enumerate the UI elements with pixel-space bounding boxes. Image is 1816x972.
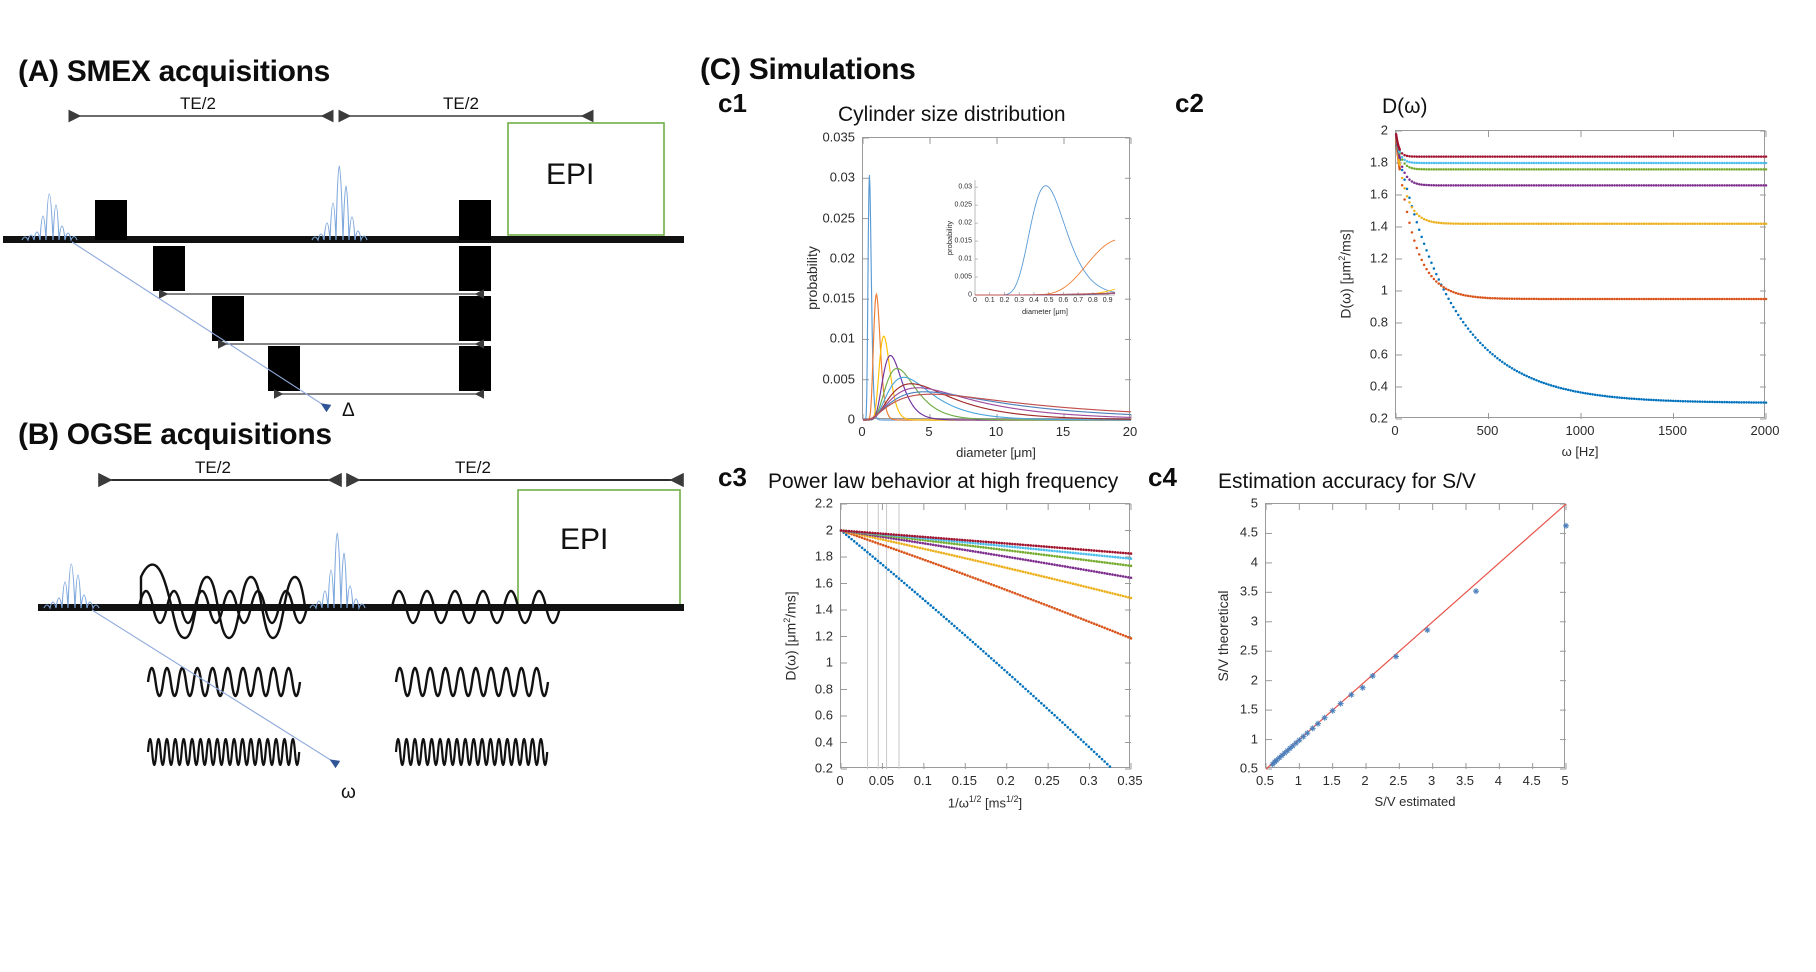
c3-ytick: 0.2 — [815, 761, 833, 776]
c4-ytick: 2.5 — [1240, 643, 1258, 658]
c1-inset-xtick: 0.4 — [1029, 297, 1039, 304]
c2-xtick: 0 — [1391, 423, 1398, 438]
c1-ytick: 0.015 — [822, 291, 855, 306]
c4-xtick: 0.5 — [1256, 773, 1274, 788]
c1-inset-xtick: 0.5 — [1044, 297, 1054, 304]
c4-plot-area — [1265, 503, 1565, 768]
c1-inset-yaxis-label: probability — [945, 220, 954, 254]
c1-xaxis-label: diameter [μm] — [956, 445, 1036, 460]
c1-inset-xtick: 0 — [973, 297, 977, 304]
c1-inset-ytick: 0.03 — [958, 184, 972, 191]
c1-ytick: 0.02 — [830, 250, 855, 265]
c2-xtick: 2000 — [1751, 423, 1780, 438]
delta-symbol-label: Δ — [342, 400, 355, 422]
subpanel-label-c3: c3 — [718, 462, 747, 493]
c2-xtick: 1500 — [1658, 423, 1687, 438]
c1-ytick: 0.03 — [830, 170, 855, 185]
c1-ytick: 0 — [848, 412, 855, 427]
c1-ytick: 0.035 — [822, 130, 855, 145]
c2-plot-area — [1395, 130, 1765, 418]
c1-inset-xtick: 0.7 — [1073, 297, 1083, 304]
subpanel-label-c1: c1 — [718, 88, 747, 119]
chart-title-c2: D(ω) — [1382, 95, 1428, 119]
c3-xaxis-label: 1/ω1/2 [ms1/2] — [948, 794, 1022, 810]
subpanel-label-c2: c2 — [1175, 88, 1204, 119]
c4-xaxis-label: S/V estimated — [1375, 794, 1456, 809]
c2-ytick: 0.4 — [1370, 379, 1388, 394]
c1-inset-xaxis-label: diameter [μm] — [1022, 307, 1068, 316]
c3-xtick: 0.05 — [869, 773, 894, 788]
c4-ytick: 0.5 — [1240, 761, 1258, 776]
c3-xtick: 0.35 — [1117, 773, 1142, 788]
c4-xtick: 4 — [1495, 773, 1502, 788]
c4-xtick: 5 — [1561, 773, 1568, 788]
panel-b-title: (B) OGSE acquisitions — [18, 418, 332, 452]
panel-a-title: (A) SMEX acquisitions — [18, 55, 330, 89]
c4-ytick: 3.5 — [1240, 584, 1258, 599]
c3-xtick: 0.25 — [1034, 773, 1059, 788]
c4-ytick: 5 — [1251, 496, 1258, 511]
ogse-sequence-diagram — [0, 452, 700, 792]
c3-xtick: 0.15 — [952, 773, 977, 788]
te-half-left-a: TE/2 — [180, 94, 216, 114]
c4-ytick: 4.5 — [1240, 525, 1258, 540]
c4-xtick: 2 — [1361, 773, 1368, 788]
c2-ytick: 2 — [1381, 123, 1388, 138]
c1-xtick: 20 — [1123, 424, 1137, 439]
c1-inset-ytick: 0.005 — [954, 274, 972, 281]
smex-sequence-diagram — [0, 88, 700, 418]
c3-ytick: 2.2 — [815, 496, 833, 511]
te-half-right-b: TE/2 — [455, 458, 491, 478]
c1-inset-xtick: 0.8 — [1088, 297, 1098, 304]
c3-ytick: 1.6 — [815, 575, 833, 590]
panel-c-title: (C) Simulations — [700, 53, 916, 87]
c2-ytick: 0.6 — [1370, 347, 1388, 362]
c2-xtick: 1000 — [1566, 423, 1595, 438]
omega-symbol-label: ω — [341, 782, 356, 804]
c4-xtick: 1 — [1295, 773, 1302, 788]
c1-xtick: 10 — [989, 424, 1003, 439]
c2-ytick: 1.2 — [1370, 251, 1388, 266]
c1-xtick: 0 — [858, 424, 865, 439]
c2-xaxis-label: ω [Hz] — [1562, 444, 1599, 459]
c3-ytick: 2 — [826, 522, 833, 537]
epi-label-b: EPI — [560, 523, 608, 557]
c4-ytick: 3 — [1251, 613, 1258, 628]
c3-ytick: 1.4 — [815, 602, 833, 617]
c1-inset-ytick: 0.015 — [954, 238, 972, 245]
c1-xtick: 5 — [925, 424, 932, 439]
c3-xtick: 0 — [836, 773, 843, 788]
c4-ytick: 2 — [1251, 672, 1258, 687]
c1-ytick: 0.01 — [830, 331, 855, 346]
c3-ytick: 1.8 — [815, 549, 833, 564]
c1-inset-ytick: 0.02 — [958, 220, 972, 227]
c2-ytick: 1.4 — [1370, 219, 1388, 234]
c2-ytick: 0.2 — [1370, 411, 1388, 426]
c2-ytick: 1.8 — [1370, 155, 1388, 170]
c2-ytick: 1.6 — [1370, 187, 1388, 202]
c3-plot-area — [840, 503, 1130, 768]
c4-xtick: 3 — [1428, 773, 1435, 788]
c1-ytick: 0.005 — [822, 371, 855, 386]
c1-inset-xtick: 0.3 — [1014, 297, 1024, 304]
c3-ytick: 0.4 — [815, 734, 833, 749]
c4-yaxis-label: S/V theoretical — [1215, 590, 1231, 681]
c4-xtick: 4.5 — [1523, 773, 1541, 788]
c3-ytick: 0.6 — [815, 708, 833, 723]
c3-xtick: 0.3 — [1080, 773, 1098, 788]
c1-ytick: 0.025 — [822, 210, 855, 225]
c3-ytick: 0.8 — [815, 681, 833, 696]
epi-label-a: EPI — [546, 158, 594, 192]
c1-inset-xtick: 0.6 — [1059, 297, 1069, 304]
c2-xtick: 500 — [1477, 423, 1499, 438]
chart-title-c4: Estimation accuracy for S/V — [1218, 470, 1476, 494]
c2-yaxis-label: D(ω) [μm2/ms] — [1337, 229, 1354, 318]
c1-xtick: 15 — [1056, 424, 1070, 439]
c3-yaxis-label: D(ω) [μm2/ms] — [782, 591, 799, 680]
c3-ytick: 1.2 — [815, 628, 833, 643]
c3-ytick: 1 — [826, 655, 833, 670]
c3-xtick: 0.1 — [914, 773, 932, 788]
c1-inset-xtick: 0.1 — [985, 297, 995, 304]
c2-ytick: 1 — [1381, 283, 1388, 298]
te-half-right-a: TE/2 — [443, 94, 479, 114]
c1-inset-ytick: 0 — [968, 292, 972, 299]
c4-xtick: 2.5 — [1389, 773, 1407, 788]
c1-inset-xtick: 0.2 — [1000, 297, 1010, 304]
c4-xtick: 3.5 — [1456, 773, 1474, 788]
c4-ytick: 1 — [1251, 731, 1258, 746]
c1-yaxis-label: probability — [804, 246, 820, 310]
subpanel-label-c4: c4 — [1148, 462, 1177, 493]
c1-inset-xtick: 0.9 — [1103, 297, 1113, 304]
c1-inset-plot — [975, 180, 1115, 295]
c4-ytick: 1.5 — [1240, 702, 1258, 717]
chart-title-c1: Cylinder size distribution — [838, 103, 1066, 127]
c4-ytick: 4 — [1251, 554, 1258, 569]
chart-title-c3: Power law behavior at high frequency — [768, 470, 1118, 494]
c3-xtick: 0.2 — [997, 773, 1015, 788]
c2-ytick: 0.8 — [1370, 315, 1388, 330]
c1-inset-ytick: 0.025 — [954, 202, 972, 209]
c1-inset-ytick: 0.01 — [958, 256, 972, 263]
c4-xtick: 1.5 — [1323, 773, 1341, 788]
te-half-left-b: TE/2 — [195, 458, 231, 478]
